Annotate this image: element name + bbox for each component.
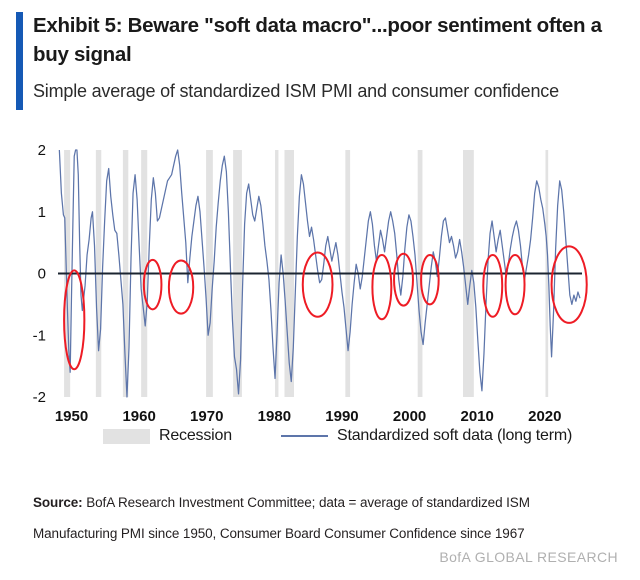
highlight-ellipse <box>483 255 502 317</box>
recession-swatch-icon <box>103 429 150 444</box>
highlight-ellipse <box>506 255 525 314</box>
chart-plot-area: 210-1-219501960197019801990200020102020 <box>0 125 640 425</box>
source-note: Source: BofA Research Investment Committ… <box>33 487 618 549</box>
legend-item-recession: Recession <box>103 427 232 445</box>
title-accent-bar <box>16 12 23 110</box>
x-axis-tick-label: 1960 <box>122 408 155 425</box>
highlight-ellipse <box>169 261 193 314</box>
x-axis-tick-label: 2010 <box>461 408 494 425</box>
x-axis-tick-label: 1950 <box>55 408 88 425</box>
source-line-2: Manufacturing PMI since 1950, Consumer B… <box>33 518 618 549</box>
legend-label-recession: Recession <box>159 427 232 445</box>
legend-label-soft-data: Standardized soft data (long term) <box>337 427 572 445</box>
highlight-ellipse <box>372 255 391 319</box>
x-axis-tick-label: 1990 <box>325 408 358 425</box>
page-title: Exhibit 5: Beware "soft data macro"...po… <box>33 11 623 69</box>
brand-footer: BofA GLOBAL RESEARCH <box>439 549 618 565</box>
soft-data-line-chart: 210-1-219501960197019801990200020102020 <box>0 125 640 425</box>
x-axis-tick-label: 1980 <box>258 408 291 425</box>
y-axis-tick-label: -2 <box>33 389 46 406</box>
chart-legend: Recession Standardized soft data (long t… <box>0 427 640 453</box>
x-axis-tick-label: 2000 <box>393 408 426 425</box>
series-line-swatch-icon <box>281 435 328 437</box>
exhibit-header: Exhibit 5: Beware "soft data macro"...po… <box>0 0 640 118</box>
source-label: Source: <box>33 495 83 510</box>
x-axis-tick-label: 2020 <box>528 408 561 425</box>
page-subtitle: Simple average of standardized ISM PMI a… <box>33 79 623 103</box>
y-axis-tick-label: 2 <box>38 142 46 159</box>
source-line-1: BofA Research Investment Committee; data… <box>83 495 530 510</box>
legend-item-soft-data: Standardized soft data (long term) <box>281 427 572 445</box>
highlight-ellipse <box>303 253 333 317</box>
y-axis-tick-label: -1 <box>33 327 46 344</box>
y-axis-tick-label: 1 <box>38 204 46 221</box>
x-axis-tick-label: 1970 <box>190 408 223 425</box>
y-axis-tick-label: 0 <box>38 266 46 283</box>
